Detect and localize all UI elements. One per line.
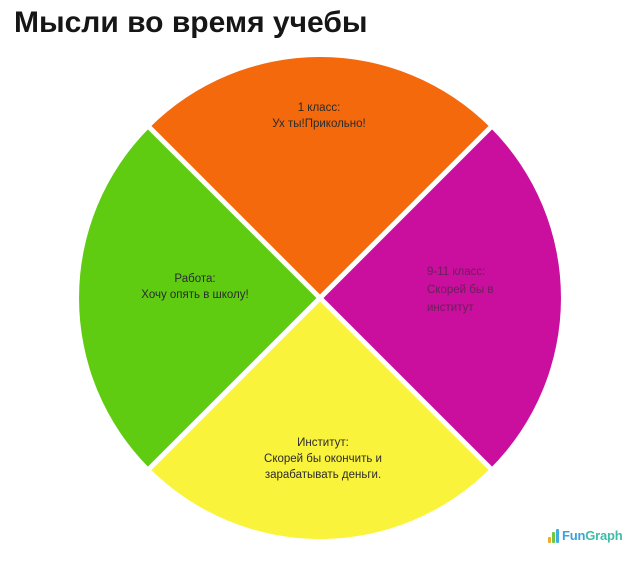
pie-label-work: Работа: Хочу опять в школу! bbox=[107, 271, 283, 303]
pie-label-first-grade: 1 класс: Ух ты!Прикольно! bbox=[259, 100, 379, 132]
pie-label-work-line-2: Хочу опять в школу! bbox=[107, 287, 283, 303]
pie-label-high-school-line-3: институт bbox=[427, 299, 537, 317]
bar-chart-icon-bar-1 bbox=[548, 537, 551, 543]
pie-label-institute: Институт: Скорей бы окончить и зарабатыв… bbox=[232, 435, 414, 483]
watermark-label-fun: Fun bbox=[562, 528, 585, 543]
watermark-label-graph: Graph bbox=[585, 528, 622, 543]
pie-label-work-line-1: Работа: bbox=[107, 271, 283, 287]
pie-label-institute-line-2: Скорей бы окончить и bbox=[232, 451, 414, 467]
watermark-label: FunGraph bbox=[562, 529, 623, 543]
page-title: Мысли во время учебы bbox=[14, 6, 367, 40]
pie-label-high-school-line-1: 9-11 класс: bbox=[427, 263, 537, 281]
pie-label-first-grade-line-2: Ух ты!Прикольно! bbox=[259, 116, 379, 132]
pie-label-high-school: 9-11 класс: Скорей бы в институт bbox=[427, 263, 537, 317]
pie-label-institute-line-3: зарабатывать деньги. bbox=[232, 467, 414, 483]
pie-label-first-grade-line-1: 1 класс: bbox=[259, 100, 379, 116]
watermark: FunGraph bbox=[548, 529, 623, 543]
bar-chart-icon-bar-3 bbox=[556, 529, 559, 543]
bar-chart-icon bbox=[548, 529, 559, 543]
pie-label-high-school-line-2: Скорей бы в bbox=[427, 281, 537, 299]
bar-chart-icon-bar-2 bbox=[552, 532, 555, 543]
pie-label-institute-line-1: Институт: bbox=[232, 435, 414, 451]
pie-chart-container: 1 класс: Ух ты!Прикольно! 9-11 класс: Ск… bbox=[79, 57, 561, 539]
